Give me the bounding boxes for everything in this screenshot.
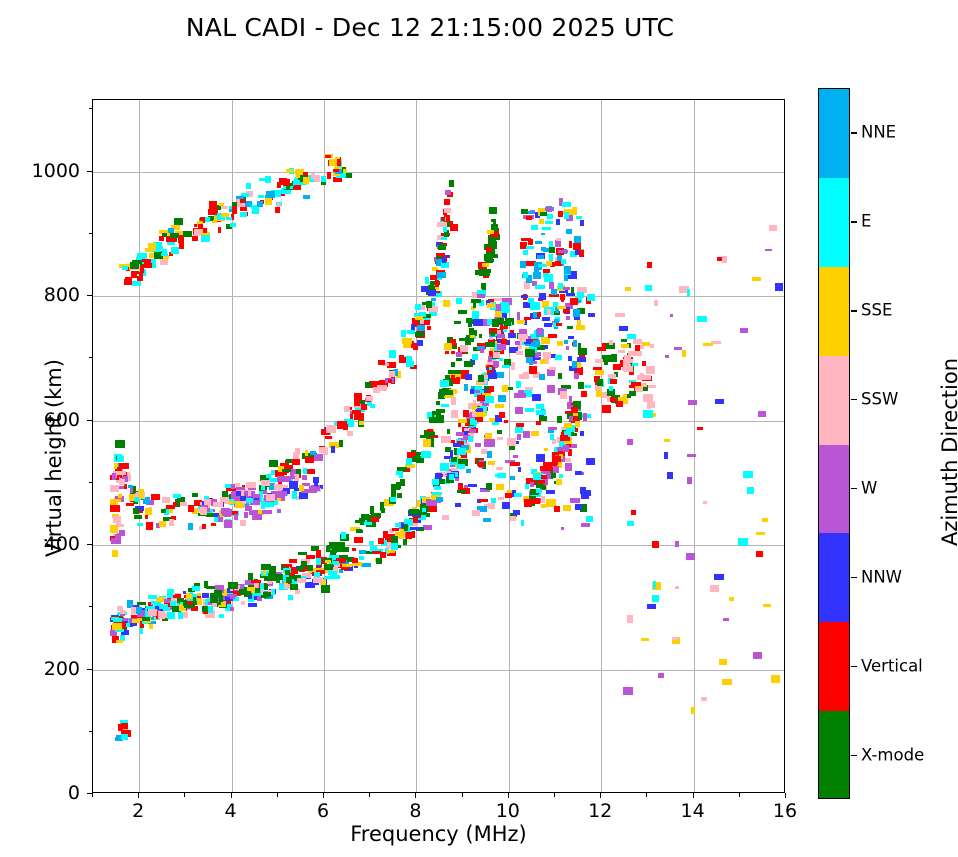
echo-point xyxy=(428,506,437,512)
colorbar-segment-nnw[interactable] xyxy=(819,533,849,622)
echo-point xyxy=(533,312,537,318)
echo-point xyxy=(397,467,407,471)
echo-point xyxy=(723,618,729,621)
echo-point xyxy=(440,380,449,388)
echo-point xyxy=(219,203,224,206)
echo-point xyxy=(540,212,547,216)
x-tick-minor xyxy=(554,793,555,797)
echo-point xyxy=(329,159,337,167)
echo-point xyxy=(526,246,534,249)
colorbar-segment-e[interactable] xyxy=(819,178,849,267)
echo-point xyxy=(122,266,128,271)
echo-point xyxy=(464,361,473,367)
echo-point xyxy=(513,510,520,515)
echo-point xyxy=(445,190,451,195)
echo-point xyxy=(652,541,658,548)
echo-point xyxy=(119,479,125,485)
echo-point xyxy=(132,619,140,623)
echo-point xyxy=(515,427,523,432)
echo-point xyxy=(618,350,624,353)
echo-point xyxy=(192,236,198,240)
echo-point xyxy=(527,211,533,214)
echo-point xyxy=(635,345,641,351)
echo-point xyxy=(119,530,126,536)
echo-point xyxy=(242,501,246,504)
echo-point xyxy=(478,462,484,467)
echo-point xyxy=(117,456,125,462)
echo-point xyxy=(332,547,340,551)
echo-point xyxy=(520,334,526,342)
echo-point xyxy=(432,479,440,485)
echo-point xyxy=(719,659,728,666)
echo-point xyxy=(469,429,476,433)
echo-point xyxy=(271,575,279,581)
echo-point xyxy=(567,326,573,329)
x-tick xyxy=(231,793,232,798)
echo-point xyxy=(670,314,673,317)
echo-point xyxy=(160,258,168,264)
echo-point xyxy=(182,613,187,618)
echo-point xyxy=(354,393,361,400)
echo-point xyxy=(441,404,450,407)
echo-point xyxy=(391,489,396,497)
echo-point xyxy=(444,343,451,351)
echo-point xyxy=(691,707,696,713)
echo-point xyxy=(472,354,478,360)
y-tick-label: 600 xyxy=(0,409,80,431)
echo-point xyxy=(449,180,454,187)
echo-point xyxy=(505,493,512,498)
echo-point xyxy=(497,430,502,434)
echo-point xyxy=(578,382,584,390)
echo-point xyxy=(192,493,198,497)
echo-point xyxy=(738,538,747,545)
echo-point xyxy=(714,574,723,580)
echo-point xyxy=(488,356,492,362)
echo-point xyxy=(642,342,650,346)
plot-area xyxy=(92,99,785,793)
echo-point xyxy=(134,515,141,520)
echo-point xyxy=(494,298,503,301)
echo-point xyxy=(252,207,259,214)
echo-point xyxy=(167,612,175,619)
colorbar-label-x-mode: X-mode xyxy=(861,745,924,764)
echo-point xyxy=(444,208,451,213)
echo-point xyxy=(475,443,482,447)
echo-point xyxy=(556,323,562,327)
echo-point xyxy=(564,423,573,429)
echo-point xyxy=(423,439,431,447)
echo-point xyxy=(376,558,382,564)
y-axis-title: Virtual height (km) xyxy=(42,308,66,608)
colorbar-label-vertical: Vertical xyxy=(861,656,923,675)
echo-point xyxy=(230,223,236,226)
echo-point xyxy=(539,293,545,300)
colorbar-tick xyxy=(851,577,857,578)
echo-point xyxy=(397,493,402,498)
echo-point xyxy=(528,239,534,245)
echo-point xyxy=(294,185,302,189)
echo-point xyxy=(269,460,278,467)
echo-point xyxy=(352,548,356,551)
echo-point xyxy=(426,499,431,507)
echo-point xyxy=(540,466,549,472)
echo-point xyxy=(390,497,396,501)
colorbar-tick xyxy=(851,666,857,667)
echo-point xyxy=(674,347,682,350)
echo-point xyxy=(326,425,336,432)
echo-point xyxy=(523,250,529,256)
echo-point xyxy=(197,598,202,605)
echo-point xyxy=(541,504,546,508)
echo-point xyxy=(115,534,120,539)
echo-point xyxy=(297,578,306,584)
echo-point xyxy=(703,501,707,504)
echo-point xyxy=(406,532,415,538)
echo-point xyxy=(496,484,504,490)
echo-point xyxy=(244,491,248,496)
echo-point xyxy=(263,592,272,597)
colorbar-segment-x-mode[interactable] xyxy=(819,711,849,799)
echo-point xyxy=(514,493,522,497)
echo-point xyxy=(307,565,313,571)
echo-point xyxy=(561,259,566,264)
echo-point xyxy=(536,410,546,416)
echo-point xyxy=(472,292,476,298)
echo-point xyxy=(569,416,573,421)
echo-point xyxy=(645,285,652,292)
echo-point xyxy=(486,483,492,489)
echo-point xyxy=(396,532,405,538)
echo-point xyxy=(465,374,472,380)
echo-point xyxy=(121,734,128,741)
echo-point xyxy=(510,476,515,480)
echo-point xyxy=(403,539,407,545)
echo-point xyxy=(458,310,466,313)
echo-point xyxy=(539,219,544,224)
echo-point xyxy=(391,536,397,543)
echo-point xyxy=(131,271,140,274)
echo-point xyxy=(478,375,484,382)
echo-point xyxy=(313,577,322,583)
echo-point xyxy=(498,497,504,500)
echo-point xyxy=(646,375,651,380)
echo-point xyxy=(203,228,208,233)
echo-point xyxy=(480,348,485,353)
echo-point xyxy=(339,440,343,446)
echo-point xyxy=(133,508,139,515)
echo-point xyxy=(563,445,568,452)
echo-point xyxy=(758,411,766,417)
echo-point xyxy=(513,455,518,458)
echo-point xyxy=(543,269,550,273)
y-tick-minor xyxy=(89,357,93,358)
echo-point xyxy=(425,277,430,284)
echo-point xyxy=(246,498,253,502)
echo-point xyxy=(277,492,285,498)
y-tick-label: 800 xyxy=(0,284,80,306)
echo-point xyxy=(173,502,177,506)
echo-point xyxy=(232,206,237,214)
echo-point xyxy=(117,606,123,611)
echo-point xyxy=(546,261,553,266)
colorbar-segment-vertical[interactable] xyxy=(819,622,849,711)
echo-point xyxy=(765,249,772,252)
echo-point xyxy=(324,564,332,570)
echo-point xyxy=(557,416,562,422)
echo-point xyxy=(504,321,511,326)
echo-point xyxy=(557,341,563,345)
echo-point xyxy=(244,591,251,597)
echo-point xyxy=(231,484,235,489)
echo-point xyxy=(529,366,537,373)
echo-point xyxy=(145,508,152,515)
echo-point xyxy=(574,373,579,379)
x-tick-label: 12 xyxy=(588,800,612,822)
echo-point xyxy=(115,440,125,448)
echo-point xyxy=(573,340,577,347)
echo-point xyxy=(316,557,321,565)
echo-point xyxy=(580,220,585,226)
echo-point xyxy=(497,318,504,324)
echo-point xyxy=(652,595,659,602)
colorbar-segment-sse[interactable] xyxy=(819,267,849,356)
echo-point xyxy=(257,201,263,207)
echo-point xyxy=(472,405,477,410)
echo-point xyxy=(275,207,280,213)
echo-point xyxy=(470,420,477,425)
ionogram-figure: NAL CADI - Dec 12 21:15:00 2025 UTC 2468… xyxy=(0,0,958,857)
colorbar-label-sse: SSE xyxy=(861,301,892,320)
echo-point xyxy=(230,595,235,600)
echo-point xyxy=(573,243,580,249)
echo-point xyxy=(140,628,144,635)
echo-point xyxy=(624,366,634,372)
echo-point xyxy=(305,450,308,456)
echo-point xyxy=(511,362,515,370)
echo-point xyxy=(488,461,494,465)
echo-point xyxy=(136,607,143,613)
echo-point xyxy=(473,319,483,325)
colorbar-segment-ssw[interactable] xyxy=(819,356,849,445)
echo-point xyxy=(361,563,371,568)
echo-point xyxy=(436,256,441,259)
echo-point xyxy=(219,614,224,617)
echo-point xyxy=(647,604,655,609)
echo-point xyxy=(587,294,595,301)
colorbar-segment-w[interactable] xyxy=(819,445,849,534)
echo-point xyxy=(537,255,544,259)
echo-point xyxy=(637,375,647,380)
echo-point xyxy=(499,412,505,418)
echo-point xyxy=(533,272,541,279)
echo-point xyxy=(517,393,526,398)
echo-point xyxy=(204,499,211,505)
echo-point xyxy=(144,263,152,267)
echo-point xyxy=(516,351,523,355)
x-tick-label: 16 xyxy=(773,800,797,822)
echo-point xyxy=(470,335,475,339)
echo-point xyxy=(228,582,238,590)
echo-point xyxy=(775,283,784,291)
echo-point xyxy=(629,391,636,396)
echo-point xyxy=(457,490,465,493)
x-tick-label: 10 xyxy=(496,800,520,822)
echo-point xyxy=(126,503,134,506)
echo-point xyxy=(491,331,495,336)
echo-point xyxy=(248,603,256,607)
echo-point xyxy=(458,419,467,423)
echo-point xyxy=(202,593,208,598)
echo-point xyxy=(487,451,491,459)
echo-point xyxy=(565,458,571,463)
colorbar-label-w: W xyxy=(861,478,877,497)
echo-point xyxy=(300,565,305,569)
echo-point xyxy=(722,256,727,263)
echo-point xyxy=(454,321,461,325)
echo-point xyxy=(634,351,642,357)
echo-point xyxy=(402,357,406,363)
echo-point xyxy=(521,209,528,214)
echo-point xyxy=(274,484,283,490)
y-tick-label: 0 xyxy=(0,782,80,804)
echo-point xyxy=(240,520,246,526)
echo-point xyxy=(654,300,659,306)
x-tick xyxy=(415,793,416,798)
echo-point xyxy=(244,512,248,519)
echo-point xyxy=(466,469,472,473)
echo-point xyxy=(354,400,359,405)
echo-point xyxy=(354,537,363,543)
echo-point xyxy=(604,357,608,365)
echo-point xyxy=(442,515,449,521)
echo-point xyxy=(249,510,258,515)
echo-point xyxy=(515,407,524,414)
echo-point xyxy=(577,292,585,298)
echo-point xyxy=(230,607,234,611)
echo-point xyxy=(521,295,528,299)
echo-point xyxy=(535,241,542,245)
echo-point xyxy=(113,516,121,523)
echo-point xyxy=(140,266,144,273)
echo-point xyxy=(498,395,507,402)
echo-point xyxy=(378,538,384,544)
echo-point xyxy=(456,298,462,303)
echo-point xyxy=(174,218,183,225)
echo-point xyxy=(161,509,166,513)
echo-point xyxy=(665,355,669,358)
colorbar[interactable] xyxy=(818,88,850,799)
echo-point xyxy=(292,491,297,499)
echo-point xyxy=(468,320,471,326)
echo-point xyxy=(570,498,580,504)
echo-point xyxy=(578,348,586,355)
echo-point xyxy=(183,231,192,238)
echo-point xyxy=(391,484,401,490)
echo-point xyxy=(573,309,580,317)
echo-point xyxy=(597,347,606,351)
x-tick-label: 6 xyxy=(317,800,329,822)
echo-point xyxy=(289,481,298,489)
echo-point xyxy=(187,594,192,598)
echo-point xyxy=(483,518,491,522)
echo-point xyxy=(544,274,553,282)
echo-point xyxy=(283,564,292,567)
echo-point xyxy=(234,514,238,519)
echo-point xyxy=(577,357,585,362)
echo-point xyxy=(508,333,515,338)
echo-point xyxy=(523,372,528,376)
echo-point xyxy=(583,413,588,420)
echo-point xyxy=(613,364,621,371)
echo-point xyxy=(574,236,581,243)
echo-point xyxy=(246,482,255,489)
colorbar-label-nne: NNE xyxy=(861,123,896,142)
echo-point xyxy=(451,375,455,381)
echo-point xyxy=(554,506,560,513)
y-tick-minor xyxy=(89,731,93,732)
colorbar-segment-nne[interactable] xyxy=(819,89,849,178)
echo-point xyxy=(292,459,300,465)
echo-point xyxy=(299,485,304,492)
echo-point xyxy=(581,523,591,527)
echo-point xyxy=(352,410,361,415)
echo-point xyxy=(359,556,364,561)
echo-point xyxy=(686,553,695,561)
echo-point xyxy=(643,410,653,418)
echo-point xyxy=(517,434,521,440)
echo-point xyxy=(445,351,449,354)
echo-point xyxy=(262,510,272,514)
echo-point xyxy=(193,597,196,604)
echo-point xyxy=(539,374,545,380)
echo-point xyxy=(595,359,603,363)
echo-point xyxy=(258,195,265,198)
y-tick xyxy=(87,793,92,794)
echo-point xyxy=(290,584,298,590)
colorbar-tick xyxy=(851,132,857,133)
echo-point xyxy=(206,586,215,589)
y-tick xyxy=(87,295,92,296)
echo-point xyxy=(486,270,491,275)
echo-point xyxy=(429,432,435,437)
echo-point xyxy=(277,509,281,512)
x-tick-label: 14 xyxy=(681,800,705,822)
echo-point xyxy=(468,436,472,443)
echo-point xyxy=(444,199,450,205)
echo-point xyxy=(756,532,765,536)
echo-point xyxy=(344,406,350,413)
echo-point xyxy=(422,508,426,511)
x-tick-label: 4 xyxy=(225,800,237,822)
echo-point xyxy=(555,240,561,246)
echo-point xyxy=(371,517,379,522)
echo-point xyxy=(535,285,545,289)
echo-point xyxy=(464,384,468,391)
echo-point xyxy=(497,473,505,478)
echo-point xyxy=(747,487,755,494)
echo-point xyxy=(564,212,569,219)
echo-point xyxy=(449,474,454,480)
echo-point xyxy=(259,178,269,182)
echo-point xyxy=(146,606,155,609)
echo-point xyxy=(536,454,544,462)
echo-point xyxy=(558,283,564,289)
echo-point xyxy=(510,516,516,521)
y-tick-minor xyxy=(89,108,93,109)
echo-point xyxy=(221,508,229,514)
echo-point xyxy=(283,179,290,186)
